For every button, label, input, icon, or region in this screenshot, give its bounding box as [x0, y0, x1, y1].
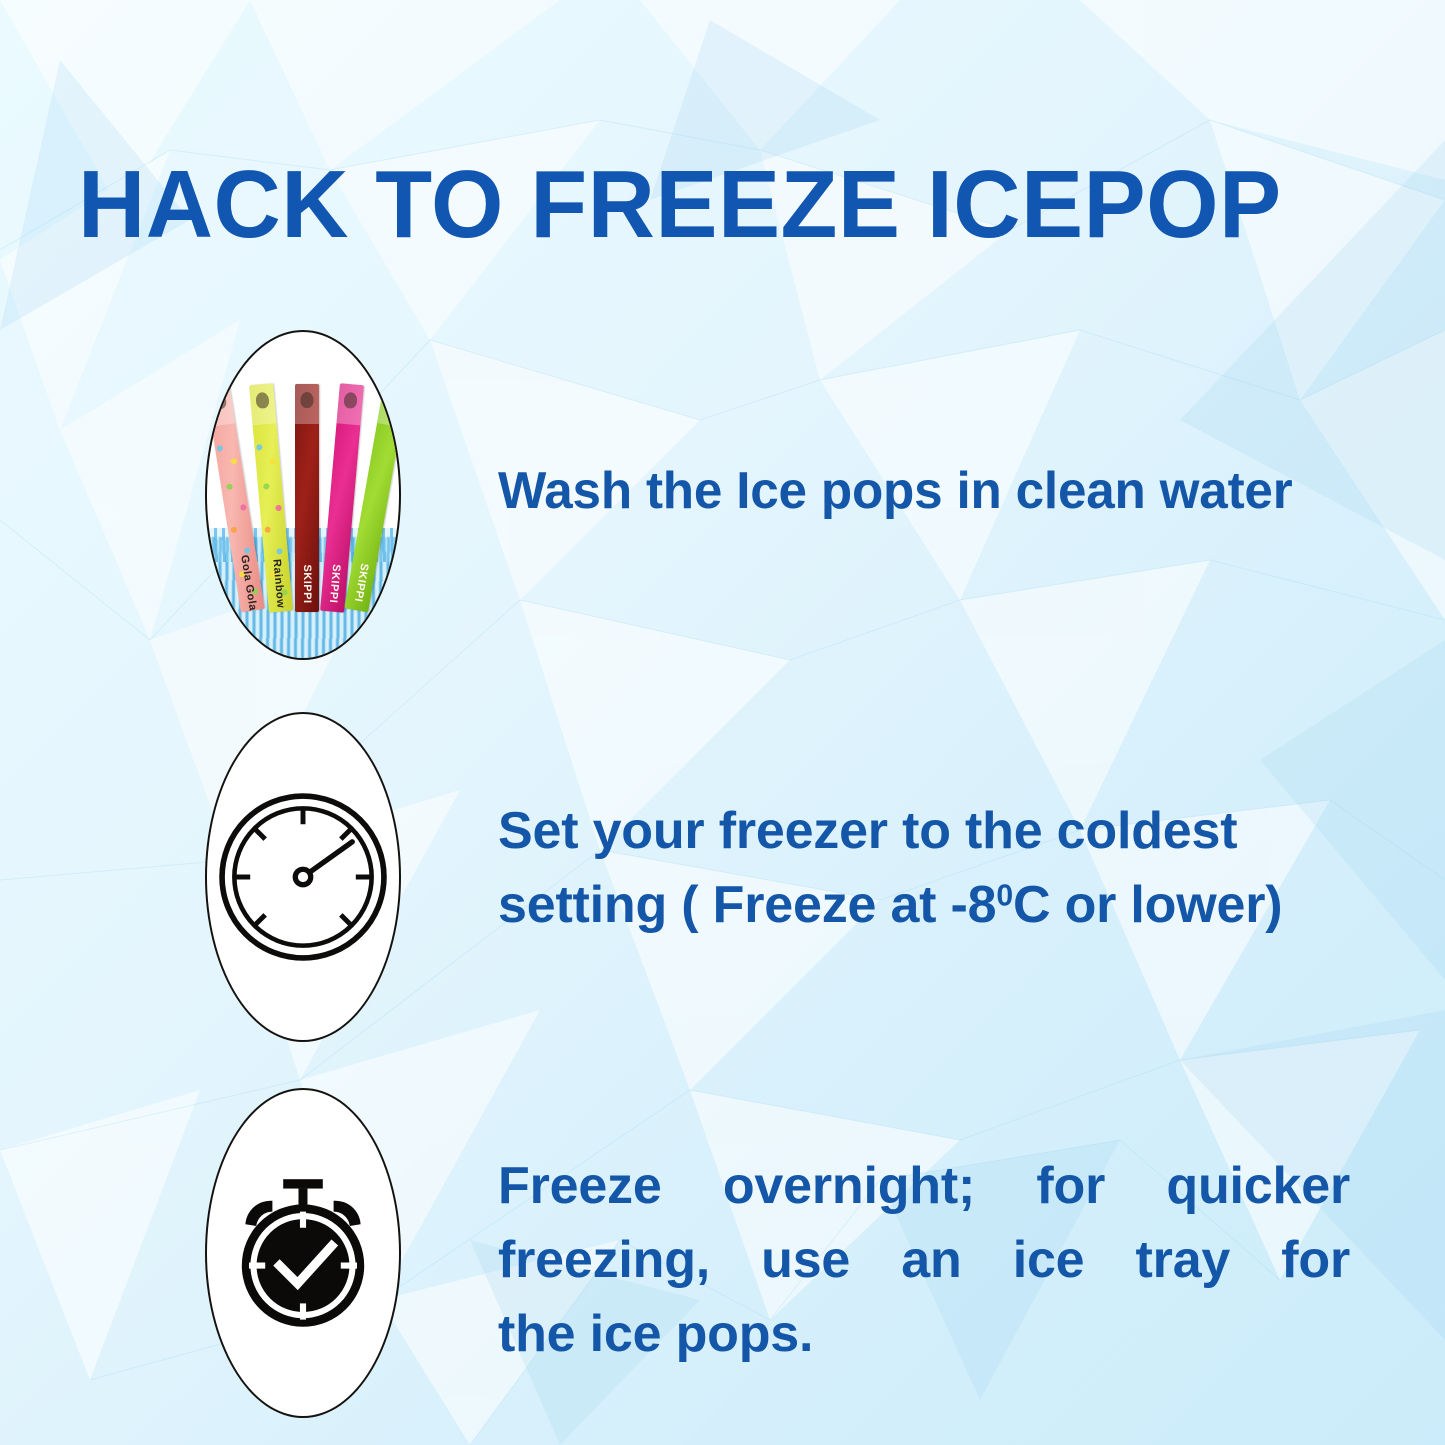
ice-pop-group: Gola Gola Rainbow SKIPPI	[221, 384, 389, 624]
infographic-poster: HACK TO FREEZE ICEPOP Gola Gola	[0, 0, 1445, 1445]
degree-symbol: 0	[996, 880, 1013, 913]
step-2-icon-badge	[205, 712, 401, 1042]
step-3-text-line-2: freezing, use an ice tray for	[498, 1224, 1350, 1298]
step-1-text: Wash the Ice pops in clean water	[498, 463, 1404, 520]
step-2-text-line-1: Set your freezer to the coldest	[498, 795, 1398, 869]
step-3-icon-badge	[205, 1088, 401, 1418]
step-2-text-line-2-post: C or lower)	[1013, 876, 1282, 934]
ice-pop-stick: SKIPPI	[295, 384, 319, 612]
step-2-text-line-2: setting ( Freeze at -80C or lower)	[498, 869, 1398, 943]
step-3-text-line-1: Freeze overnight; for quicker	[498, 1150, 1350, 1224]
step-row-3	[205, 1088, 401, 1418]
step-3-text-line-3: the ice pops.	[498, 1298, 1350, 1372]
step-3-text: Freeze overnight; for quicker freezing, …	[498, 1150, 1350, 1371]
page-title: HACK TO FREEZE ICEPOP	[78, 157, 1339, 253]
ice-pops-photo-icon: Gola Gola Rainbow SKIPPI	[207, 332, 399, 658]
alarm-clock-check-icon	[213, 1163, 393, 1343]
step-row-1: Gola Gola Rainbow SKIPPI	[205, 330, 401, 660]
step-2-text: Set your freezer to the coldest setting …	[498, 795, 1398, 943]
step-1-icon-badge: Gola Gola Rainbow SKIPPI	[205, 330, 401, 660]
step-2-text-line-2-pre: setting ( Freeze at -8	[498, 876, 996, 934]
temperature-gauge-icon	[215, 789, 391, 965]
step-row-2	[205, 712, 401, 1042]
